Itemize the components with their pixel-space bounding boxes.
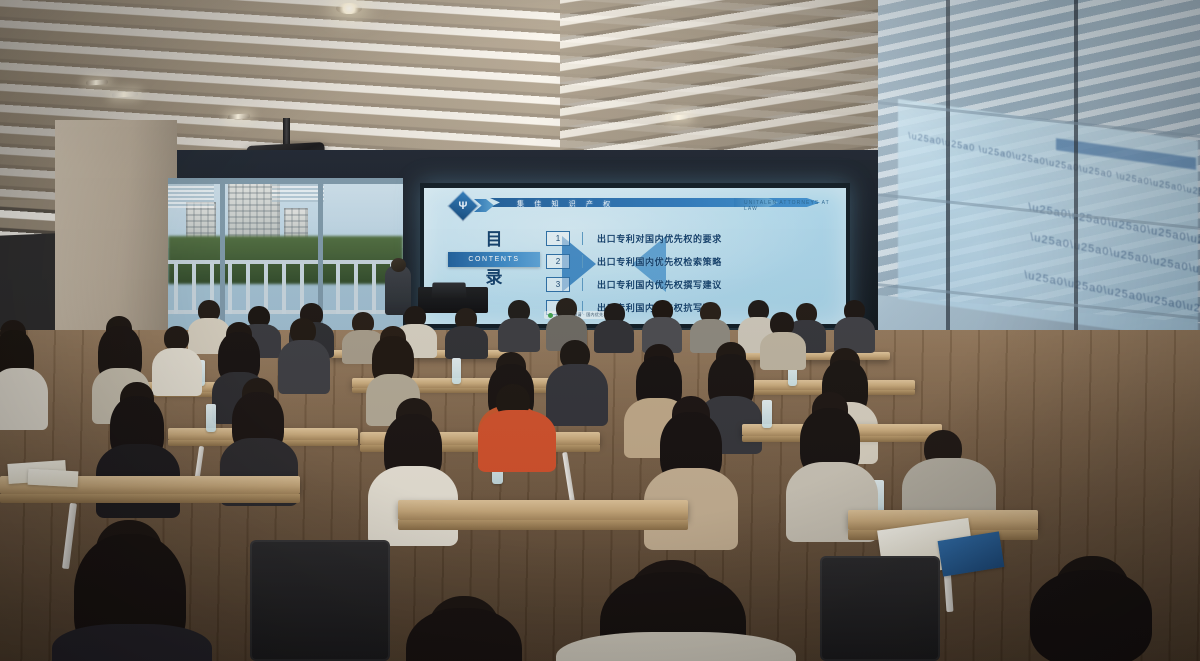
slide-title-en: UNITALEN ATTORNEYS AT LAW xyxy=(744,200,834,212)
slide-header-ribbon: Ψ 集 佳 知 识 产 权 UNITALEN ATTORNEYS AT LAW xyxy=(434,195,834,210)
agenda-divider xyxy=(582,232,583,245)
attendee-body xyxy=(445,326,488,359)
slide-title-cn: 集 佳 知 识 产 权 xyxy=(517,199,614,209)
agenda-label: 出口专利国内优先权撰写建议 xyxy=(597,278,722,291)
agenda-number: 3 xyxy=(546,277,570,292)
agenda-divider xyxy=(582,255,583,268)
attendee-body xyxy=(546,364,608,426)
attendee-body xyxy=(498,318,540,352)
downlight-icon xyxy=(336,3,362,14)
attendee-body xyxy=(0,368,48,430)
agenda-number: 1 xyxy=(546,231,570,246)
agenda-divider xyxy=(582,278,583,291)
agenda-list: 1 出口专利对国内优先权的要求 2 出口专利国内优先权检索策略 3 出口专利国内… xyxy=(546,228,836,320)
water-bottle xyxy=(206,404,216,432)
window-mullion xyxy=(220,178,225,338)
agenda-label: 出口专利对国内优先权的要求 xyxy=(597,232,722,245)
water-bottle xyxy=(762,400,772,428)
attendee-body xyxy=(52,624,212,661)
contents-badge: CONTENTS xyxy=(448,252,540,267)
desk-edge xyxy=(0,494,300,503)
water-bottle xyxy=(452,358,461,384)
desk-edge xyxy=(398,520,688,530)
contents-block: 目 CONTENTS 录 xyxy=(448,232,540,287)
paper-handout xyxy=(28,469,79,488)
chair-back xyxy=(820,556,940,661)
agenda-item: 2 出口专利国内优先权检索策略 xyxy=(546,251,836,271)
agenda-item: 1 出口专利对国内优先权的要求 xyxy=(546,228,836,248)
attendee-body xyxy=(278,340,330,394)
laptop-icon xyxy=(431,282,466,298)
desk xyxy=(398,500,688,520)
chair-back xyxy=(250,540,390,661)
attendee-body xyxy=(478,410,556,472)
attendee-hair xyxy=(1030,570,1152,661)
attendee-body xyxy=(760,332,806,370)
window-mullion xyxy=(168,178,403,184)
contents-cn-top: 目 xyxy=(448,232,540,249)
attendee-body xyxy=(152,348,202,396)
agenda-number: 2 xyxy=(546,254,570,269)
firm-logo-glyph-icon: Ψ xyxy=(452,195,474,217)
attendee-body xyxy=(556,632,796,661)
attendee-body xyxy=(594,320,634,353)
agenda-item: 3 出口专利国内优先权撰写建议 xyxy=(546,274,836,294)
agenda-label: 出口专利国内优先权检索策略 xyxy=(597,255,722,268)
presenter-head xyxy=(391,258,406,272)
seminar-room-photo: \u25a0\u25a0 \u25a0\u25a0\u25a0\u25a0 \u… xyxy=(0,0,1200,661)
